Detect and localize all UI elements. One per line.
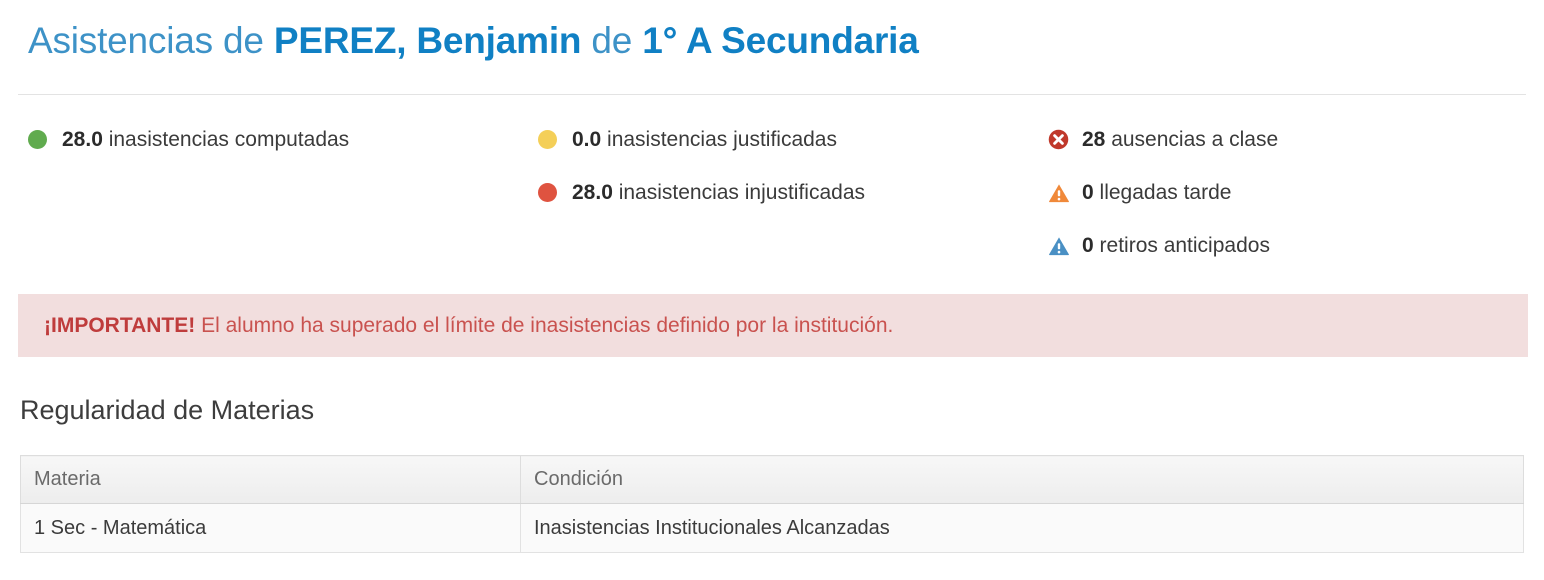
stat-value: 0 (1082, 234, 1094, 257)
cell-materia: 1 Sec - Matemática (21, 504, 521, 553)
stat-label: llegadas tarde (1094, 181, 1232, 204)
stat-text: 0 llegadas tarde (1082, 179, 1231, 206)
summary-column-middle: 0.0 inasistencias justificadas 28.0 inas… (538, 126, 865, 232)
stat-label: ausencias a clase (1105, 128, 1278, 151)
table-row: 1 Sec - Matemática Inasistencias Institu… (21, 504, 1524, 553)
page-title-prefix: Asistencias de (28, 20, 274, 61)
table-head: Materia Condición (21, 456, 1524, 504)
times-circle-icon (1048, 126, 1070, 151)
student-name: PEREZ, Benjamin (274, 20, 581, 61)
stat-text: 28 ausencias a clase (1082, 126, 1278, 153)
green-dot-icon (28, 126, 50, 151)
class-name: 1° A Secundaria (642, 20, 918, 61)
column-header-condicion: Condición (521, 456, 1524, 504)
table-body: 1 Sec - Matemática Inasistencias Institu… (21, 504, 1524, 553)
stat-text: 0.0 inasistencias justificadas (572, 126, 837, 153)
stat-text: 0 retiros anticipados (1082, 232, 1270, 259)
attendance-summary: 28.0 inasistencias computadas 0.0 inasis… (0, 126, 1544, 286)
stat-inasistencias-injustificadas: 28.0 inasistencias injustificadas (538, 179, 865, 232)
stat-label: retiros anticipados (1094, 234, 1270, 257)
stat-label: inasistencias justificadas (601, 128, 837, 151)
stat-inasistencias-justificadas: 0.0 inasistencias justificadas (538, 126, 865, 179)
page-title: Asistencias de PEREZ, Benjamin de 1° A S… (28, 14, 919, 68)
important-alert: ¡IMPORTANTE! El alumno ha superado el lí… (18, 294, 1528, 357)
stat-text: 28.0 inasistencias injustificadas (572, 179, 865, 206)
alert-message: El alumno ha superado el límite de inasi… (195, 314, 893, 337)
red-dot-icon (538, 179, 560, 204)
alert-label: ¡IMPORTANTE! (44, 314, 195, 337)
stat-value: 28.0 (62, 128, 103, 151)
stat-retiros-anticipados: 0 retiros anticipados (1048, 232, 1278, 285)
subjects-table: Materia Condición 1 Sec - Matemática Ina… (20, 455, 1524, 553)
warning-triangle-orange-icon (1048, 179, 1070, 204)
stat-label: inasistencias computadas (103, 128, 349, 151)
stat-text: 28.0 inasistencias computadas (62, 126, 349, 153)
alert-text: ¡IMPORTANTE! El alumno ha superado el lí… (18, 312, 893, 339)
summary-column-left: 28.0 inasistencias computadas (28, 126, 349, 179)
stat-value: 28 (1082, 128, 1105, 151)
column-header-materia: Materia (21, 456, 521, 504)
table-header-row: Materia Condición (21, 456, 1524, 504)
stat-llegadas-tarde: 0 llegadas tarde (1048, 179, 1278, 232)
stat-value: 0 (1082, 181, 1094, 204)
stat-value: 0.0 (572, 128, 601, 151)
warning-triangle-blue-icon (1048, 232, 1070, 257)
stat-value: 28.0 (572, 181, 613, 204)
section-heading-regularidad: Regularidad de Materias (20, 392, 314, 428)
title-divider (18, 94, 1526, 95)
attendance-page: Asistencias de PEREZ, Benjamin de 1° A S… (0, 0, 1544, 580)
stat-ausencias-a-clase: 28 ausencias a clase (1048, 126, 1278, 179)
summary-column-right: 28 ausencias a clase 0 llegadas tarde (1048, 126, 1278, 285)
cell-condicion: Inasistencias Institucionales Alcanzadas (521, 504, 1524, 553)
stat-inasistencias-computadas: 28.0 inasistencias computadas (28, 126, 349, 179)
page-title-connector: de (581, 20, 642, 61)
stat-label: inasistencias injustificadas (613, 181, 865, 204)
yellow-dot-icon (538, 126, 560, 151)
